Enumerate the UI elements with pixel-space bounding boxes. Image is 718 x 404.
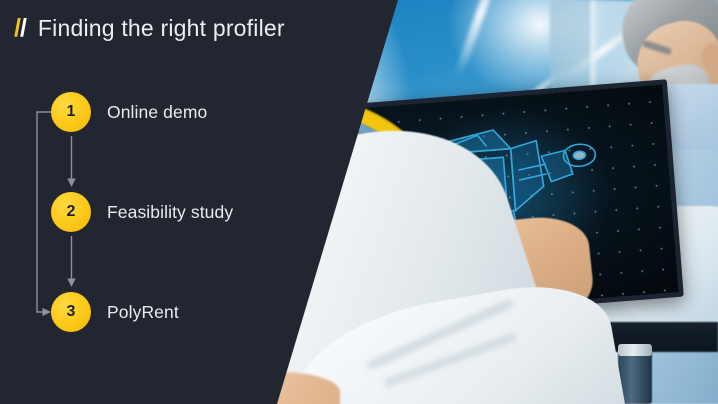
step-label-2: Feasibility study <box>107 202 233 223</box>
step-badge-2: 2 <box>51 192 91 232</box>
step-badge-1: 1 <box>51 92 91 132</box>
step-badge-3: 3 <box>51 292 91 332</box>
step-item-3[interactable]: 3 PolyRent <box>51 292 179 332</box>
step-label-3: PolyRent <box>107 302 179 323</box>
step-label-1: Online demo <box>107 102 207 123</box>
step-item-2[interactable]: 2 Feasibility study <box>51 192 233 232</box>
step-item-1[interactable]: 1 Online demo <box>51 92 207 132</box>
steps-list: 1 Online demo 2 Feasibility study 3 Poly… <box>0 0 280 404</box>
presentation-slide: // Finding the right profiler 1 Online d… <box>0 0 718 404</box>
slide-content: // Finding the right profiler 1 Online d… <box>0 0 718 404</box>
